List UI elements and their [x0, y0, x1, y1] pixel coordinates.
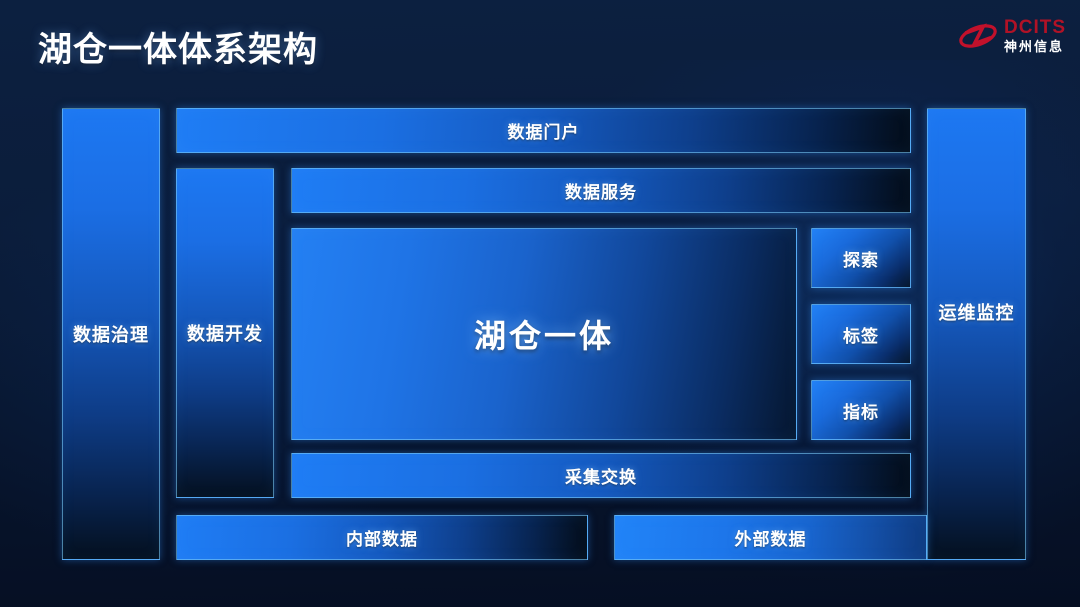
chip-exploration[interactable]: 探索 [811, 228, 911, 288]
pillar-ops-monitoring-label: 运维监控 [939, 299, 1015, 325]
pillar-data-governance[interactable]: 数据治理 [62, 108, 160, 560]
bar-internal-data-label: 内部数据 [346, 525, 418, 550]
bar-collection-exchange-label: 采集交换 [565, 463, 637, 488]
brand-name-cn: 神州信息 [1004, 40, 1066, 53]
bar-internal-data[interactable]: 内部数据 [176, 515, 588, 560]
block-lakehouse-core[interactable]: 湖仓一体 [291, 228, 797, 440]
bar-external-data[interactable]: 外部数据 [614, 515, 927, 560]
pillar-data-development[interactable]: 数据开发 [176, 168, 274, 498]
chip-metrics[interactable]: 指标 [811, 380, 911, 440]
brand-logo: DCITS 神州信息 [958, 18, 1066, 53]
chip-exploration-label: 探索 [843, 246, 879, 271]
chip-tags[interactable]: 标签 [811, 304, 911, 364]
brand-text: DCITS 神州信息 [1004, 18, 1066, 53]
chip-tags-label: 标签 [843, 322, 879, 347]
dcits-swirl-icon [958, 20, 998, 52]
bar-data-portal[interactable]: 数据门户 [176, 108, 911, 153]
bar-collection-exchange[interactable]: 采集交换 [291, 453, 911, 498]
bar-external-data-label: 外部数据 [735, 525, 807, 550]
block-lakehouse-core-label: 湖仓一体 [474, 311, 614, 357]
chip-metrics-label: 指标 [843, 398, 879, 423]
pillar-ops-monitoring[interactable]: 运维监控 [927, 108, 1026, 560]
bar-data-service-label: 数据服务 [565, 178, 637, 203]
brand-name-en: DCITS [1004, 18, 1066, 37]
bar-data-service[interactable]: 数据服务 [291, 168, 911, 213]
bar-data-portal-label: 数据门户 [508, 118, 580, 143]
pillar-data-governance-label: 数据治理 [73, 321, 149, 347]
pillar-data-development-label: 数据开发 [187, 320, 263, 346]
page-title: 湖仓一体体系架构 [38, 22, 318, 71]
